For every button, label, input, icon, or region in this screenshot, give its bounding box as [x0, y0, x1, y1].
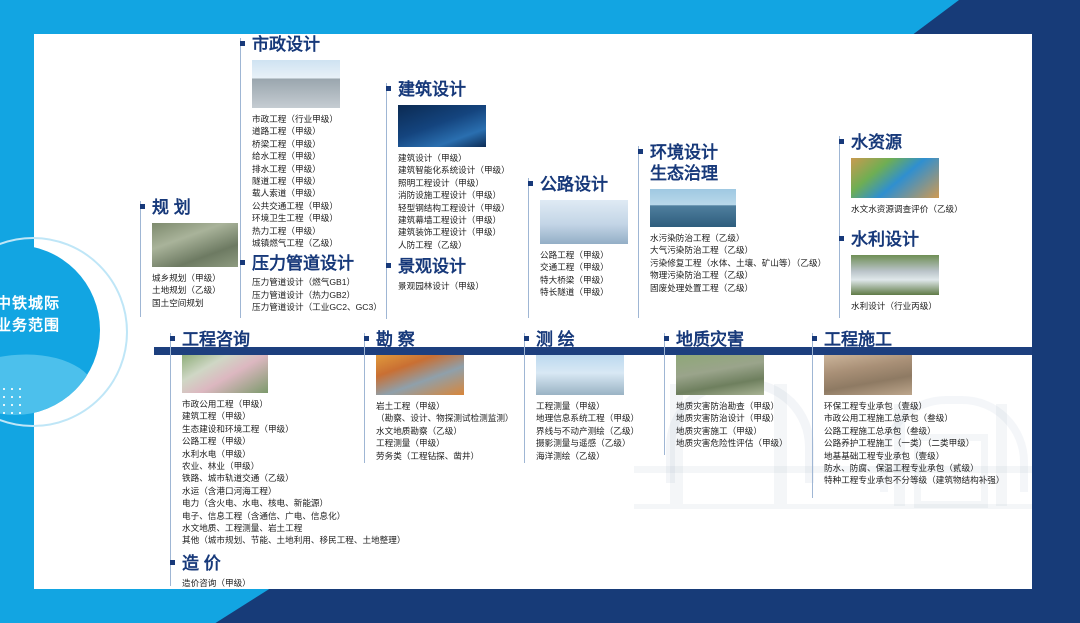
- block-environment: 环境设计 生态治理 水污染防治工程（乙级） 大气污染防治工程（乙级） 污染修复工…: [638, 142, 826, 294]
- landscape-title: 景观设计: [386, 256, 510, 277]
- water-conservancy-title: 水利设计: [839, 229, 963, 250]
- list-item: 道路工程（甲级）: [252, 125, 382, 137]
- list-item: 电力（含火电、水电、核电、新能源）: [182, 497, 405, 509]
- list-item: 公路工程（甲级）: [540, 249, 628, 261]
- list-item: 热力工程（甲级）: [252, 225, 382, 237]
- planning-title: 规 划: [140, 197, 238, 218]
- geohazard-thumbnail: [676, 355, 764, 395]
- landscape-items: 景观园林设计（甲级）: [386, 280, 510, 292]
- bullet-square-icon: [638, 149, 643, 154]
- badge-line-1: 中铁城际: [0, 293, 100, 315]
- list-item: 人防工程（乙级）: [398, 239, 510, 251]
- bullet-square-icon: [170, 560, 175, 565]
- list-item: 水污染防治工程（乙级）: [650, 232, 826, 244]
- environment-title-2: 生态治理: [638, 163, 826, 184]
- block-planning: 规 划 城乡规划（甲级） 土地规划（乙级） 国土空间规划: [140, 197, 238, 309]
- bullet-square-icon: [839, 139, 844, 144]
- municipal-items: 市政工程（行业甲级） 道路工程（甲级） 桥梁工程（甲级） 给水工程（甲级） 排水…: [240, 113, 382, 249]
- list-item: 物理污染防治工程（乙级）: [650, 269, 826, 281]
- white-content-area: 规 划 城乡规划（甲级） 土地规划（乙级） 国土空间规划 市政设计 市政工程（行…: [34, 34, 1032, 589]
- mapping-items: 工程测量（甲级） 地理信息系统工程（甲级） 界线与不动产测绘（乙级） 摄影测量与…: [524, 400, 639, 462]
- badge-line-2: 业务范围: [0, 315, 100, 337]
- municipal-thumbnail: [252, 60, 340, 108]
- list-item: 建筑装饰工程设计（甲级）: [398, 226, 510, 238]
- highway-items: 公路工程（甲级） 交通工程（甲级） 特大桥梁（甲级） 特长隧道（甲级）: [528, 249, 628, 299]
- list-item: 水文水资源调查评价（乙级）: [851, 203, 963, 215]
- list-item: 市政公用工程施工总承包（叁级）: [824, 412, 1004, 424]
- block-municipal: 市政设计 市政工程（行业甲级） 道路工程（甲级） 桥梁工程（甲级） 给水工程（甲…: [240, 34, 382, 314]
- list-item: 造价咨询（甲级）: [182, 577, 405, 589]
- bullet-square-icon: [839, 236, 844, 241]
- mapping-title: 测 绘: [524, 329, 639, 350]
- list-item: 市政工程（行业甲级）: [252, 113, 382, 125]
- list-item: 景观园林设计（甲级）: [398, 280, 510, 292]
- list-item: 岩土工程（甲级）: [376, 400, 514, 412]
- water-resource-items: 水文水资源调查评价（乙级）: [839, 203, 963, 215]
- list-item: 土地规划（乙级）: [152, 284, 238, 296]
- exploration-title: 勘 察: [364, 329, 514, 350]
- list-item: 特大桥梁（甲级）: [540, 274, 628, 286]
- list-item: 污染修复工程（水体、土壤、矿山等）（乙级）: [650, 257, 826, 269]
- infographic-canvas: 规 划 城乡规划（甲级） 土地规划（乙级） 国土空间规划 市政设计 市政工程（行…: [0, 0, 1080, 623]
- water-resource-thumbnail: [851, 158, 939, 198]
- list-item: 给水工程（甲级）: [252, 150, 382, 162]
- list-item: 公路工程施工总承包（叁级）: [824, 425, 1004, 437]
- list-item: 环保工程专业承包（壹级）: [824, 400, 1004, 412]
- bullet-square-icon: [528, 181, 533, 186]
- bullet-square-icon: [812, 336, 817, 341]
- list-item: 工程测量（甲级）: [536, 400, 639, 412]
- list-item: 水文地质、工程测量、岩土工程: [182, 522, 405, 534]
- cost-title: 造 价: [170, 553, 405, 574]
- exploration-items: 岩土工程（甲级） （勘察、设计、物探测试检测监测） 水文地质勘察（乙级） 工程测…: [364, 400, 514, 462]
- mapping-thumbnail: [536, 355, 624, 395]
- list-item: 地质灾害防治设计（甲级）: [676, 412, 788, 424]
- right-navy-edge: [1032, 0, 1080, 623]
- architecture-title: 建筑设计: [386, 79, 510, 100]
- list-item: 载人索道（甲级）: [252, 187, 382, 199]
- architecture-items: 建筑设计（甲级） 建筑智能化系统设计（甲级） 照明工程设计（甲级） 消防设施工程…: [386, 152, 510, 251]
- municipal-title: 市政设计: [240, 34, 382, 55]
- block-water-resource: 水资源 水文水资源调查评价（乙级） 水利设计 水利设计（行业丙级）: [839, 132, 963, 313]
- list-item: 其他（城市规划、节能、土地利用、移民工程、土地整理）: [182, 534, 405, 546]
- planning-thumbnail: [152, 223, 238, 267]
- environment-items: 水污染防治工程（乙级） 大气污染防治工程（乙级） 污染修复工程（水体、土壤、矿山…: [638, 232, 826, 294]
- list-item: 公路养护工程施工（一类）（二类甲级）: [824, 437, 1004, 449]
- bullet-square-icon: [240, 41, 245, 46]
- list-item: 桥梁工程（甲级）: [252, 138, 382, 150]
- list-item: 工程测量（甲级）: [376, 437, 514, 449]
- consulting-thumbnail: [182, 355, 268, 393]
- list-item: 水利设计（行业丙级）: [851, 300, 963, 312]
- badge-dot-pattern: [0, 385, 24, 415]
- list-item: 电子、信息工程（含通信、广电、信息化）: [182, 510, 405, 522]
- list-item: 固废处理处置工程（乙级）: [650, 282, 826, 294]
- list-item: 隧道工程（甲级）: [252, 175, 382, 187]
- list-item: 建筑幕墙工程设计（甲级）: [398, 214, 510, 226]
- geohazard-title: 地质灾害: [664, 329, 788, 350]
- list-item: 国土空间规划: [152, 297, 238, 309]
- list-item: 地质灾害危险性评估（甲级）: [676, 437, 788, 449]
- highway-title: 公路设计: [528, 174, 628, 195]
- geohazard-items: 地质灾害防治勘查（甲级） 地质灾害防治设计（甲级） 地质灾害施工（甲级） 地质灾…: [664, 400, 788, 450]
- list-item: 特长隧道（甲级）: [540, 286, 628, 298]
- bullet-square-icon: [386, 86, 391, 91]
- block-geohazard: 地质灾害 地质灾害防治勘查（甲级） 地质灾害防治设计（甲级） 地质灾害施工（甲级…: [664, 329, 788, 450]
- list-item: 环境卫生工程（甲级）: [252, 212, 382, 224]
- bullet-square-icon: [386, 263, 391, 268]
- list-item: 压力管道设计（工业GC2、GC3）: [252, 301, 382, 313]
- list-item: 照明工程设计（甲级）: [398, 177, 510, 189]
- list-item: 特种工程专业承包不分等级（建筑物结构补强）: [824, 474, 1004, 486]
- list-item: 铁路、城市轨道交通（乙级）: [182, 472, 405, 484]
- list-item: 大气污染防治工程（乙级）: [650, 244, 826, 256]
- list-item: 排水工程（甲级）: [252, 163, 382, 175]
- construction-title: 工程施工: [812, 329, 1004, 350]
- list-item: （勘察、设计、物探测试检测监测）: [376, 412, 514, 424]
- list-item: 海洋测绘（乙级）: [536, 450, 639, 462]
- highway-thumbnail: [540, 200, 628, 244]
- bullet-square-icon: [524, 336, 529, 341]
- list-item: 水运（含港口河海工程）: [182, 485, 405, 497]
- list-item: 地质灾害防治勘查（甲级）: [676, 400, 788, 412]
- list-item: 公共交通工程（甲级）: [252, 200, 382, 212]
- cost-items: 造价咨询（甲级）: [170, 577, 405, 589]
- list-item: 压力管道设计（燃气GB1）: [252, 276, 382, 288]
- pressure-pipe-title: 压力管道设计: [240, 253, 382, 274]
- environment-title: 环境设计: [638, 142, 826, 163]
- list-item: 防水、防腐、保温工程专业承包（贰级）: [824, 462, 1004, 474]
- block-mapping: 测 绘 工程测量（甲级） 地理信息系统工程（甲级） 界线与不动产测绘（乙级） 摄…: [524, 329, 639, 462]
- list-item: 地基基础工程专业承包（壹级）: [824, 450, 1004, 462]
- badge-text: 中铁城际 业务范围: [0, 293, 100, 337]
- environment-thumbnail: [650, 189, 736, 227]
- list-item: 建筑智能化系统设计（甲级）: [398, 164, 510, 176]
- block-construction: 工程施工 环保工程专业承包（壹级） 市政公用工程施工总承包（叁级） 公路工程施工…: [812, 329, 1004, 487]
- bullet-square-icon: [170, 336, 175, 341]
- block-exploration: 勘 察 岩土工程（甲级） （勘察、设计、物探测试检测监测） 水文地质勘察（乙级）…: [364, 329, 514, 462]
- list-item: 劳务类（工程钻探、凿井）: [376, 450, 514, 462]
- pressure-pipe-items: 压力管道设计（燃气GB1） 压力管道设计（热力GB2） 压力管道设计（工业GC2…: [240, 276, 382, 313]
- construction-thumbnail: [824, 355, 912, 395]
- water-conservancy-items: 水利设计（行业丙级）: [839, 300, 963, 312]
- planning-items: 城乡规划（甲级） 土地规划（乙级） 国土空间规划: [140, 272, 238, 309]
- bullet-square-icon: [240, 260, 245, 265]
- water-conservancy-thumbnail: [851, 255, 939, 295]
- exploration-thumbnail: [376, 355, 464, 395]
- list-item: 交通工程（甲级）: [540, 261, 628, 273]
- bullet-square-icon: [364, 336, 369, 341]
- water-resource-title: 水资源: [839, 132, 963, 153]
- list-item: 城镇燃气工程（乙级）: [252, 237, 382, 249]
- list-item: 城乡规划（甲级）: [152, 272, 238, 284]
- list-item: 水文地质勘察（乙级）: [376, 425, 514, 437]
- list-item: 摄影测量与遥感（乙级）: [536, 437, 639, 449]
- list-item: 地理信息系统工程（甲级）: [536, 412, 639, 424]
- list-item: 地质灾害施工（甲级）: [676, 425, 788, 437]
- construction-items: 环保工程专业承包（壹级） 市政公用工程施工总承包（叁级） 公路工程施工总承包（叁…: [812, 400, 1004, 487]
- list-item: 消防设施工程设计（甲级）: [398, 189, 510, 201]
- bullet-square-icon: [140, 204, 145, 209]
- bullet-square-icon: [664, 336, 669, 341]
- list-item: 界线与不动产测绘（乙级）: [536, 425, 639, 437]
- architecture-thumbnail: [398, 105, 486, 147]
- list-item: 建筑设计（甲级）: [398, 152, 510, 164]
- list-item: 轻型钢结构工程设计（甲级）: [398, 202, 510, 214]
- block-architecture: 建筑设计 建筑设计（甲级） 建筑智能化系统设计（甲级） 照明工程设计（甲级） 消…: [386, 79, 510, 293]
- block-highway: 公路设计 公路工程（甲级） 交通工程（甲级） 特大桥梁（甲级） 特长隧道（甲级）: [528, 174, 628, 299]
- list-item: 压力管道设计（热力GB2）: [252, 289, 382, 301]
